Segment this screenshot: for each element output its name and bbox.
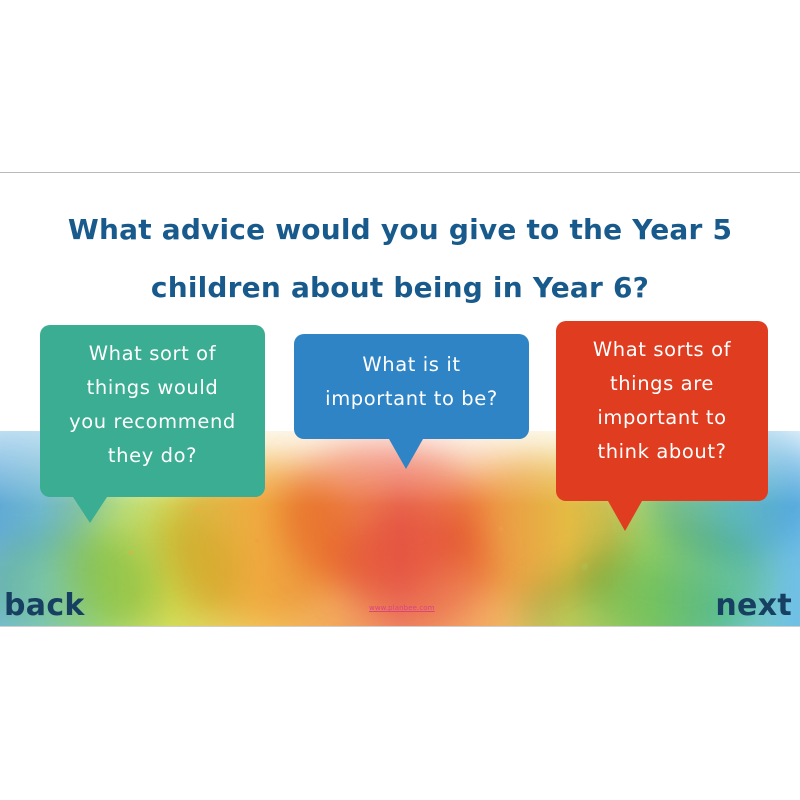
bubble-blue-line-2: important to be?: [304, 382, 519, 416]
slide-title-line-1: What advice would you give to the Year 5: [40, 201, 760, 259]
bubble-red-line-3: important to: [566, 401, 758, 435]
next-button[interactable]: next: [715, 591, 792, 621]
bubble-red-tail: [608, 501, 642, 531]
bubble-teal-line-4: they do?: [50, 439, 255, 473]
speech-bubble-teal: What sort of things would you recommend …: [40, 325, 265, 497]
bubble-blue-line-1: What is it: [304, 348, 519, 382]
screenshot-canvas: What advice would you give to the Year 5…: [0, 0, 800, 800]
slide-title: What advice would you give to the Year 5…: [40, 201, 760, 317]
slide-title-line-2: children about being in Year 6?: [40, 259, 760, 317]
bubble-teal-tail: [73, 497, 107, 523]
speech-bubble-blue: What is it important to be?: [294, 334, 529, 439]
bubble-red-line-4: think about?: [566, 435, 758, 469]
bubble-red-line-1: What sorts of: [566, 333, 758, 367]
bubble-red-line-2: things are: [566, 367, 758, 401]
back-button[interactable]: back: [4, 591, 85, 621]
speech-bubble-red: What sorts of things are important to th…: [556, 321, 768, 501]
planbee-watermark: www.planbee.com: [369, 604, 435, 612]
presentation-slide: What advice would you give to the Year 5…: [0, 172, 800, 627]
bubble-teal-line-1: What sort of: [50, 337, 255, 371]
bubble-blue-tail: [389, 439, 423, 469]
bubble-teal-line-3: you recommend: [50, 405, 255, 439]
bubble-teal-line-2: things would: [50, 371, 255, 405]
